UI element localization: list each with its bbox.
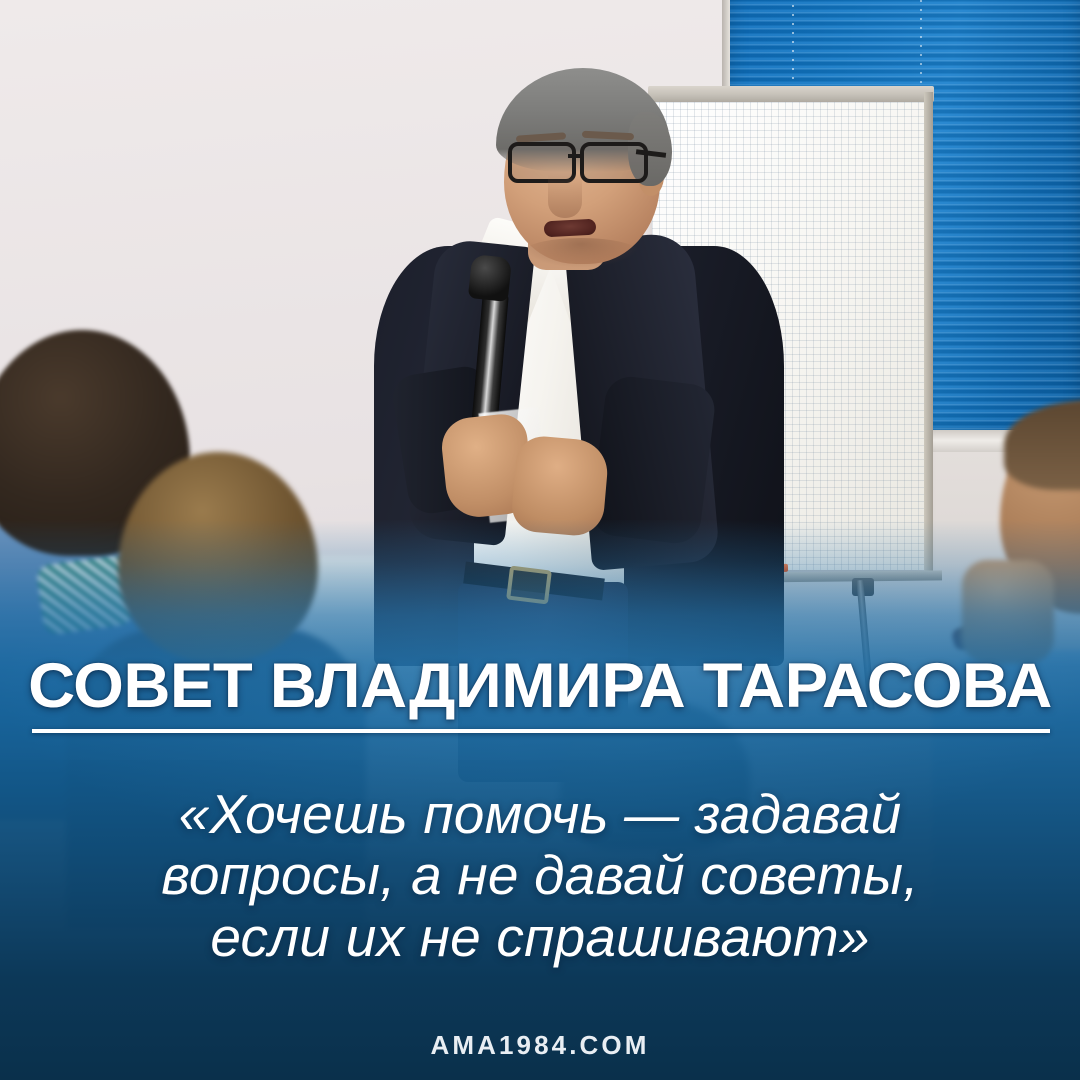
microphone-capsule: [468, 254, 512, 302]
speaker-chin-shadow: [522, 238, 640, 268]
flipchart-rail: [924, 92, 933, 578]
speaker-nose: [548, 174, 582, 218]
speaker-mouth: [544, 219, 597, 238]
quote-text: «Хочешь помочь — задавай вопросы, а не д…: [52, 784, 1028, 968]
poster-title: СОВЕТ ВЛАДИМИРА ТАРАСОВА: [0, 655, 1080, 718]
lens-right: [580, 142, 648, 183]
website-url: AMA1984.COM: [0, 1030, 1080, 1061]
glasses-bridge: [568, 154, 582, 158]
quote-line-2: вопросы, а не давай советы,: [52, 845, 1028, 906]
title-underline-rule: [32, 729, 1050, 733]
quote-line-1: «Хочешь помочь — задавай: [52, 784, 1028, 845]
poster-canvas: СОВЕТ ВЛАДИМИРА ТАРАСОВА «Хочешь помочь …: [0, 0, 1080, 1080]
quote-line-3: если их не спрашивают»: [52, 907, 1028, 968]
eyeglasses: [506, 142, 658, 178]
